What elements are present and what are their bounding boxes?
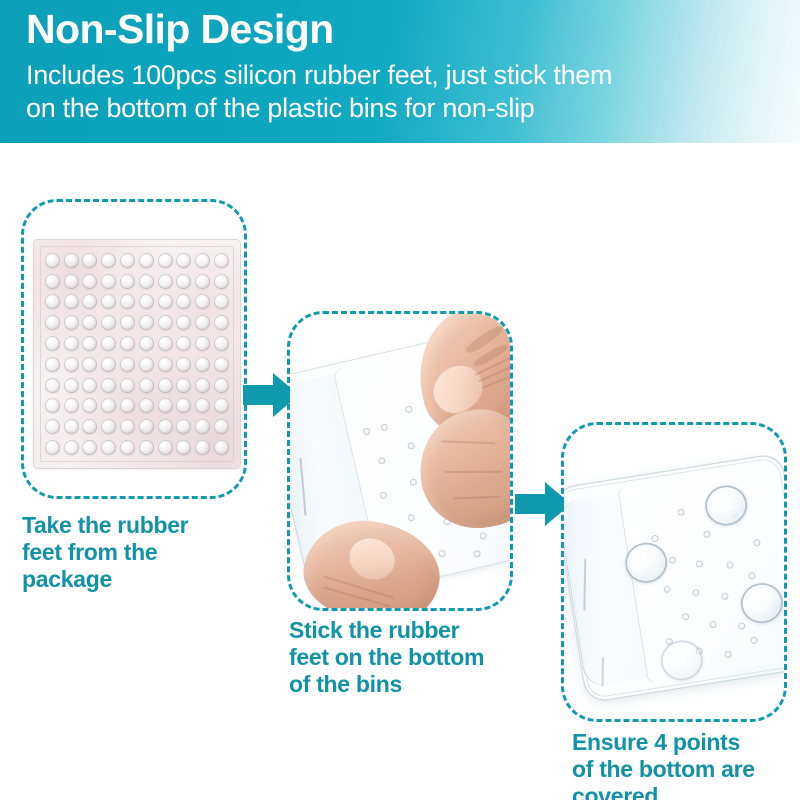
rubber-foot [214,419,229,434]
rubber-foot [176,253,191,268]
finger-wrinkle-3 [453,496,501,499]
rubber-foot [45,378,60,393]
bin-texture-dot [407,442,415,450]
rubber-foot [101,378,116,393]
bin-texture-dot [409,478,417,486]
rubber-foot [101,357,116,372]
rubber-foot [214,336,229,351]
rubber-foot [139,315,154,330]
rubber-foot [101,336,116,351]
rubber-foot [45,440,60,455]
rubber-foot [45,336,60,351]
rubber-foot [158,440,173,455]
rubber-foot [139,419,154,434]
rubber-foot [120,274,135,289]
finger-wrinkle-1 [441,440,495,443]
bin-texture-dot [677,508,685,516]
rubber-foot [139,336,154,351]
bin-texture-dot [692,589,700,597]
rubber-foot [195,419,210,434]
bin3-bottom-face [617,463,784,684]
rubber-foot [64,253,79,268]
rubber-feet-sheet-image [34,240,240,468]
rubber-foot [214,398,229,413]
rubber-foot [139,440,154,455]
rubber-foot [176,294,191,309]
rubber-foot [195,378,210,393]
rubber-foot [158,336,173,351]
bin-texture-dot [405,405,413,413]
rubber-foot [64,294,79,309]
finger-nail [342,530,403,587]
step-1-caption-line-3: package [22,566,272,593]
step-2-image-panel [287,311,513,611]
bin3-wall-highlight-2 [601,657,604,687]
bin-texture-dot [379,491,387,499]
rubber-foot [158,253,173,268]
rubber-foot [64,419,79,434]
rubber-foot [139,357,154,372]
rubber-foot [214,253,229,268]
header-banner: Non-Slip Design Includes 100pcs silicon … [0,0,800,143]
rubber-foot [120,378,135,393]
bin-texture-dot [479,532,487,540]
bin-texture-dot [669,556,677,564]
rubber-foot [176,440,191,455]
rubber-foot [195,253,210,268]
bin-texture-dot [726,561,734,569]
bin-with-four-feet-scene [564,425,784,719]
rubber-foot [195,440,210,455]
rubber-foot [82,315,97,330]
step-3-caption-line-1: Ensure 4 points [572,729,800,756]
rubber-foot [120,336,135,351]
rubber-foot [82,274,97,289]
rubber-foot [101,274,116,289]
rubber-foot [45,357,60,372]
rubber-foot [82,440,97,455]
step-2-caption-line-1: Stick the rubber [289,617,549,644]
bin-texture-dot [380,423,388,431]
rubber-foot [82,336,97,351]
rubber-foot [195,357,210,372]
step-3-caption-line-3: covered [572,783,800,800]
step-1-caption: Take the rubber feet from the package [22,512,272,593]
rubber-foot [139,274,154,289]
rubber-foot [158,419,173,434]
rubber-foot [64,398,79,413]
rubber-foot [64,274,79,289]
rubber-foot [45,315,60,330]
bin3-wall-highlight-1 [583,559,586,611]
bin-texture-dot [738,622,746,630]
bin-texture-dot [407,513,415,521]
rubber-foot [64,357,79,372]
rubber-foot [214,274,229,289]
rubber-foot [158,378,173,393]
rubber-foot [64,440,79,455]
rubber-foot [82,253,97,268]
bin-texture-dot [438,549,446,557]
rubber-foot [101,440,116,455]
rubber-foot [195,315,210,330]
rubber-foot [214,378,229,393]
rubber-foot [158,357,173,372]
bin-texture-dot [750,636,758,644]
rubber-foot [176,315,191,330]
rubber-foot [82,419,97,434]
rubber-foot [45,274,60,289]
step-2-caption-line-3: of the bins [289,671,549,698]
rubber-foot [176,336,191,351]
clear-plastic-bin-bottom-up [564,452,784,704]
rubber-foot [101,315,116,330]
rubber-foot [64,378,79,393]
rubber-foot [45,294,60,309]
bin-texture-dot [682,613,690,621]
step-1-image-panel [21,199,247,499]
rubber-foot [214,294,229,309]
rubber-foot [101,294,116,309]
rubber-foot [82,378,97,393]
rubber-foot [176,357,191,372]
rubber-foot [214,315,229,330]
rubber-foot [214,357,229,372]
rubber-foot [82,357,97,372]
thumb-wrinkle-2 [478,366,510,382]
rubber-foot [64,315,79,330]
rubber-foot [101,398,116,413]
rubber-foot [139,253,154,268]
step-3-caption-line-2: of the bottom are [572,756,800,783]
bin-texture-dot [378,457,386,465]
rubber-foot [176,419,191,434]
bin-texture-dot [724,651,732,659]
rubber-foot [45,253,60,268]
bin-texture-dot [721,592,729,600]
rubber-foot [101,419,116,434]
bin-texture-dot [363,427,371,435]
rubber-foot [176,398,191,413]
header-subtitle-line-2: on the bottom of the plastic bins for no… [26,92,766,125]
rubber-foot [195,274,210,289]
rubber-foot [195,336,210,351]
rubber-foot [158,315,173,330]
rubber-foot [176,274,191,289]
bin-texture-dot [753,539,761,547]
finger-wrinkle-2 [444,471,502,473]
rubber-foot [158,398,173,413]
rubber-foot [120,294,135,309]
rubber-feet-grid [43,250,231,458]
lower-hand-wrinkle-2 [323,586,391,607]
rubber-foot [195,398,210,413]
step-1-caption-line-1: Take the rubber [22,512,272,539]
step-3-image-panel [561,422,787,722]
page-title: Non-Slip Design [26,8,334,51]
rubber-foot [120,253,135,268]
rubber-foot [158,294,173,309]
rubber-foot [120,398,135,413]
rubber-foot [195,294,210,309]
rubber-foot [120,357,135,372]
step-2-caption: Stick the rubber feet on the bottom of t… [289,617,549,698]
header-subtitle-line-1: Includes 100pcs silicon rubber feet, jus… [26,59,766,92]
bin-texture-dot [748,572,756,580]
rubber-foot [45,419,60,434]
bin-texture-dot [663,585,671,593]
bin-texture-dot [709,621,717,629]
rubber-foot [139,294,154,309]
hand-sticking-foot-scene [290,314,510,608]
rubber-foot [45,398,60,413]
step-3-caption: Ensure 4 points of the bottom are covere… [572,729,800,800]
rubber-foot [214,440,229,455]
bin-texture-dot [703,530,711,538]
rubber-foot [82,398,97,413]
rubber-foot [64,336,79,351]
rubber-foot [120,440,135,455]
rubber-foot [120,419,135,434]
rubber-foot [120,315,135,330]
rubber-foot [101,253,116,268]
bin-texture-dot [473,550,481,558]
bin-texture-dot [695,560,703,568]
header-subtitle: Includes 100pcs silicon rubber feet, jus… [26,59,766,125]
rubber-foot [158,274,173,289]
rubber-foot [82,294,97,309]
rubber-foot [176,378,191,393]
step-2-caption-line-2: feet on the bottom [289,644,549,671]
rubber-foot [139,398,154,413]
bin-wall-highlight [299,458,306,516]
step-1-caption-line-2: feet from the [22,539,272,566]
rubber-foot [139,378,154,393]
bin-texture-dot [651,535,659,543]
